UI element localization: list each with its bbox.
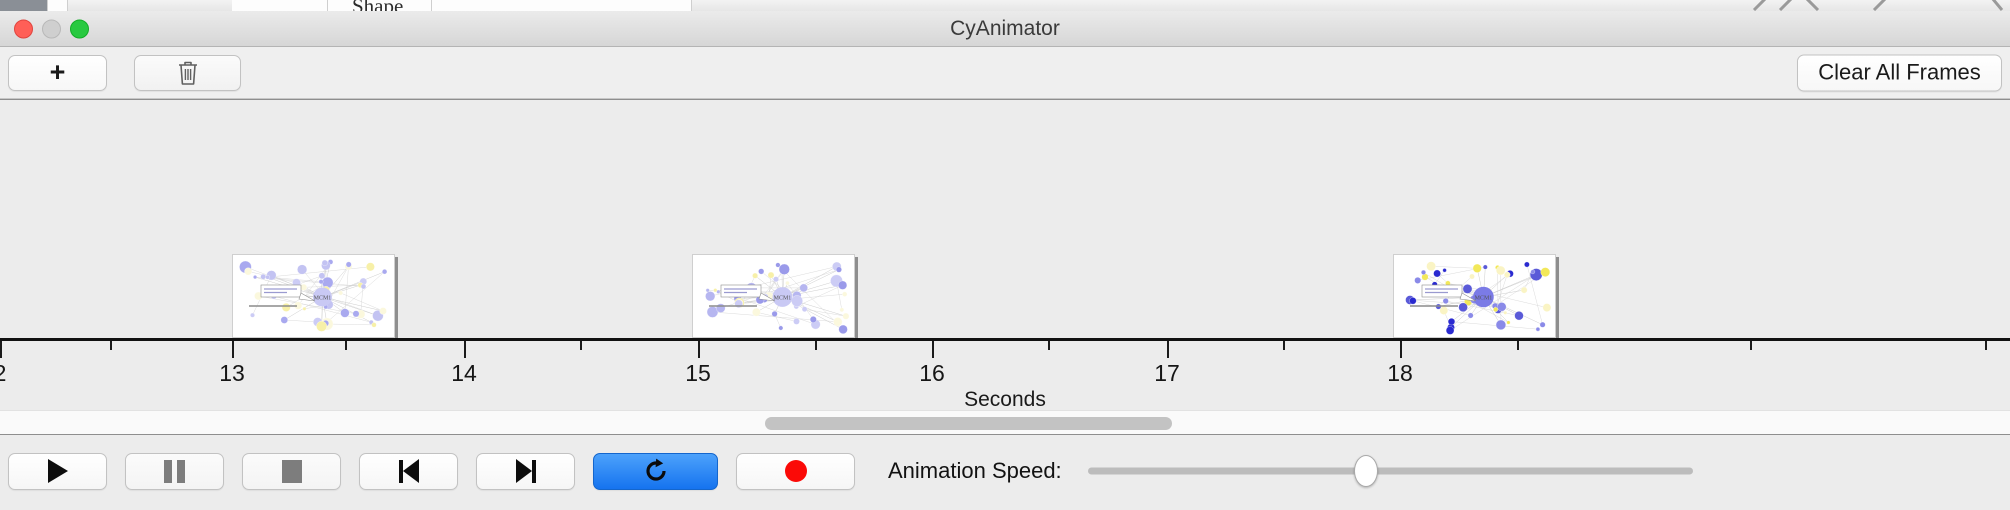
axis-tick-minor	[580, 341, 582, 350]
svg-text:MCM1: MCM1	[1475, 295, 1493, 301]
axis-tick-label: 14	[451, 360, 477, 387]
axis-tick-minor	[815, 341, 817, 350]
axis-title: Seconds	[0, 388, 2010, 412]
cyanimator-window: CyAnimator + Clear All Frames MCM1MCM1MC…	[0, 11, 2010, 510]
timeline-axis: 2131415161718 Seconds	[0, 338, 2010, 410]
frame-thumbnail: MCM1	[235, 257, 392, 335]
axis-line	[0, 338, 2010, 341]
axis-tick-major	[1167, 341, 1169, 358]
loop-icon	[643, 458, 669, 484]
axis-tick-minor	[1517, 341, 1519, 350]
skip-previous-icon	[399, 459, 419, 483]
axis-tick-major	[464, 341, 466, 358]
skip-next-icon	[516, 459, 536, 483]
axis-tick-major	[0, 341, 2, 358]
add-frame-button[interactable]: +	[8, 55, 107, 91]
record-button[interactable]	[736, 453, 855, 490]
frame-thumbnail: MCM1	[1396, 257, 1553, 335]
axis-tick-major	[232, 341, 234, 358]
playback-controls: Animation Speed:	[0, 435, 2010, 507]
timeline-frame[interactable]: MCM1	[692, 254, 855, 338]
play-button[interactable]	[8, 453, 107, 490]
axis-tick-minor	[345, 341, 347, 350]
svg-text:MCM1: MCM1	[314, 295, 332, 301]
axis-tick-major	[698, 341, 700, 358]
skip-previous-button[interactable]	[359, 453, 458, 490]
timeline-scrollbar[interactable]	[0, 410, 2010, 435]
axis-tick-minor	[1048, 341, 1050, 350]
axis-tick-minor	[1283, 341, 1285, 350]
axis-tick-label: 18	[1387, 360, 1413, 387]
slider-track	[1088, 468, 1693, 475]
slider-thumb[interactable]	[1354, 455, 1378, 487]
loop-button[interactable]	[593, 453, 718, 490]
delete-frame-button[interactable]	[134, 55, 241, 91]
axis-tick-label: 2	[0, 360, 6, 387]
frame-thumbnail: MCM1	[695, 257, 852, 335]
clear-all-frames-button[interactable]: Clear All Frames	[1797, 54, 2002, 91]
timeline-frame[interactable]: MCM1	[1393, 254, 1556, 338]
scrollbar-thumb[interactable]	[765, 417, 1172, 430]
timeline-frame[interactable]: MCM1	[232, 254, 395, 338]
axis-tick-label: 17	[1154, 360, 1180, 387]
stop-button[interactable]	[242, 453, 341, 490]
window-title: CyAnimator	[0, 17, 2010, 41]
plus-icon: +	[50, 59, 66, 86]
axis-tick-minor	[1750, 341, 1752, 350]
axis-tick-minor	[110, 341, 112, 350]
axis-tick-label: 16	[919, 360, 945, 387]
svg-text:MCM1: MCM1	[774, 295, 792, 301]
axis-tick-major	[1400, 341, 1402, 358]
axis-tick-minor	[1985, 341, 1987, 350]
animation-speed-slider[interactable]	[1088, 453, 1693, 490]
record-icon	[785, 460, 807, 482]
play-icon	[48, 459, 68, 483]
skip-next-button[interactable]	[476, 453, 575, 490]
trash-icon	[177, 60, 199, 86]
axis-tick-label: 15	[685, 360, 711, 387]
stop-icon	[282, 460, 302, 483]
axis-tick-label: 13	[219, 360, 245, 387]
pause-button[interactable]	[125, 453, 224, 490]
pause-icon	[164, 460, 185, 483]
toolbar: + Clear All Frames	[0, 47, 2010, 99]
animation-speed-label: Animation Speed:	[888, 458, 1062, 484]
timeline-pane[interactable]: MCM1MCM1MCM1 2131415161718 Seconds	[0, 99, 2010, 410]
axis-tick-major	[932, 341, 934, 358]
title-bar[interactable]: CyAnimator	[0, 11, 2010, 47]
